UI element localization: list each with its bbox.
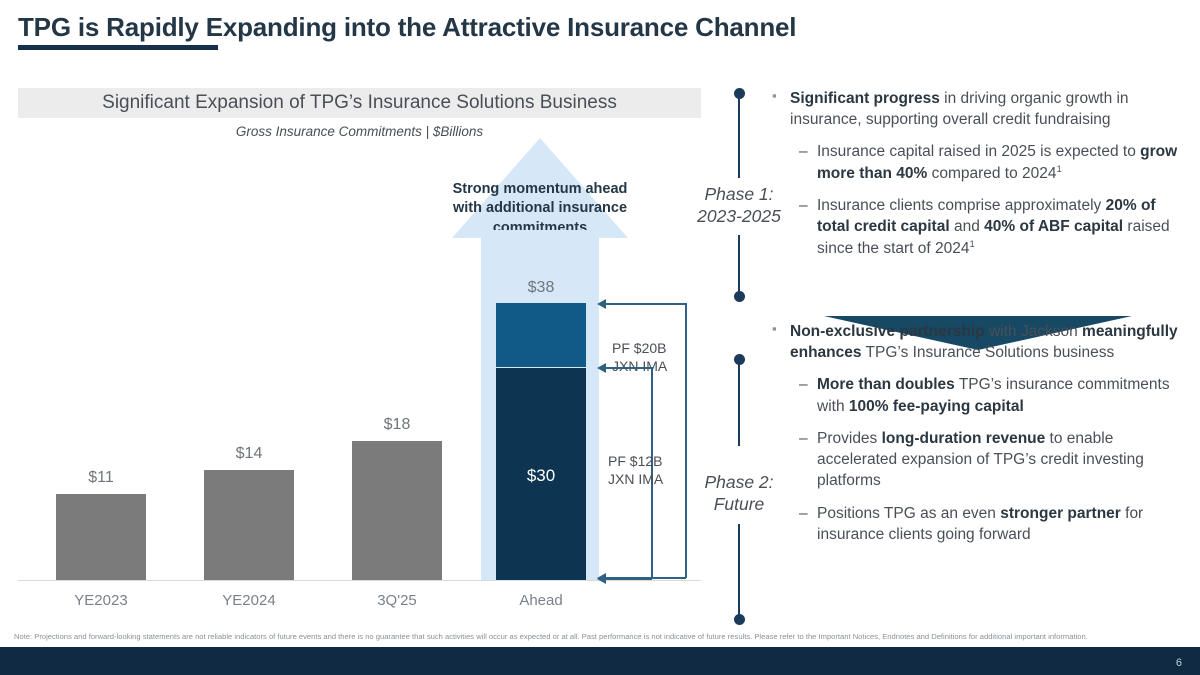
timeline-dot-phase2-end <box>734 614 745 625</box>
category-label-ye2024: YE2024 <box>204 592 294 609</box>
bullet-group2-sub1-bold2: 100% fee-paying capital <box>849 398 1024 415</box>
timeline-line-phase2-upper <box>738 364 740 446</box>
bullet-group2-sub2: Provides long-duration revenue to enable… <box>772 428 1184 492</box>
callout-pf-20b-line1: PF $20B <box>612 339 667 357</box>
chart-title: Significant Expansion of TPG’s Insurance… <box>102 92 617 114</box>
bullet-group1-sub1-footnote-marker: 1 <box>1057 164 1062 175</box>
bullet-group2-sub2-a: Provides <box>817 430 882 447</box>
bullet-group1-main: Significant progress in driving organic … <box>772 88 1184 130</box>
category-label-3q25: 3Q'25 <box>352 592 442 609</box>
bullet-group1-sub1: Insurance capital raised in 2025 is expe… <box>772 141 1184 184</box>
bar-label-ye2023: $11 <box>56 469 146 487</box>
bullet-group2-sub3: Positions TPG as an even stronger partne… <box>772 503 1184 545</box>
chart-subtitle: Gross Insurance Commitments | $Billions <box>18 124 701 139</box>
bullet-group2-sub2-bold: long-duration revenue <box>882 430 1046 447</box>
bullet-group2-main-rest: TPG’s Insurance Solutions business <box>862 344 1115 361</box>
bracket-inner-top-line <box>606 367 652 369</box>
bar-3q25 <box>352 441 442 580</box>
bullet-group2-sub3-a: Positions TPG as an even <box>817 505 1000 522</box>
page-number: 6 <box>1176 657 1182 669</box>
timeline-line-phase1-upper <box>738 98 740 178</box>
bullet-group1-sub1-a: Insurance capital raised in 2025 is expe… <box>817 143 1140 160</box>
insights-column: Significant progress in driving organic … <box>772 88 1184 545</box>
bullet-group1-sub1-b: compared to 2024 <box>927 165 1056 182</box>
bullet-group2-main-bold1: Non-exclusive partnership <box>790 323 985 340</box>
callout-pf-12b-line1: PF $12B <box>608 452 663 470</box>
bar-label-ye2024: $14 <box>204 445 294 463</box>
bullet-group1-sub2-footnote-marker: 1 <box>970 239 975 250</box>
timeline-dot-phase1-end <box>734 291 745 302</box>
bar-ye2023 <box>56 494 146 580</box>
category-label-ahead: Ahead <box>496 592 586 609</box>
bracket-inner-bottom-arrowhead <box>597 574 606 584</box>
page-title: TPG is Rapidly Expanding into the Attrac… <box>18 12 796 43</box>
chart-title-band: Significant Expansion of TPG’s Insurance… <box>18 88 701 118</box>
bracket-inner-bottom-line <box>606 578 652 580</box>
bracket-outer-top-arrowhead <box>597 299 606 309</box>
slide-footer-bar <box>0 647 1200 675</box>
timeline-line-phase2-lower <box>738 524 740 616</box>
bullet-group2-main: Non-exclusive partnership with Jackson m… <box>772 321 1184 363</box>
bullet-group2-sub3-bold: stronger partner <box>1000 505 1121 522</box>
bar-label-3q25: $18 <box>352 416 442 434</box>
bullet-group2-sub1-bold1: More than doubles <box>817 376 955 393</box>
callout-pf-12b: PF $12B JXN IMA <box>608 452 663 488</box>
bracket-inner-top-arrowhead <box>597 363 606 373</box>
bar-label-ahead-total: $38 <box>496 279 586 297</box>
bullet-group1-sub2-mid: and <box>950 218 984 235</box>
momentum-line-1: Strong momentum ahead <box>430 180 650 199</box>
bullet-group2-sub1: More than doubles TPG’s insurance commit… <box>772 374 1184 416</box>
callout-pf-12b-line2: JXN IMA <box>608 470 663 488</box>
callout-pf-20b: PF $20B JXN IMA <box>612 339 667 375</box>
timeline-line-phase1-lower <box>738 235 740 293</box>
bullet-group2-main-mid: with Jackson <box>985 323 1082 340</box>
footnote-disclaimer: Note: Projections and forward-looking st… <box>14 631 1174 642</box>
bracket-outer-vertical <box>685 303 687 578</box>
category-label-ye2023: YE2023 <box>56 592 146 609</box>
chevron-spacer <box>772 259 1184 321</box>
bullet-group1-sub2-a: Insurance clients comprise approximately <box>817 197 1106 214</box>
bar-label-ahead-base: $30 <box>496 466 586 486</box>
bar-ye2024 <box>204 470 294 580</box>
bullet-group1-main-bold: Significant progress <box>790 90 940 107</box>
bracket-outer-top-line <box>606 303 686 305</box>
bar-ahead-segment-additional <box>496 303 586 368</box>
slide-root: TPG is Rapidly Expanding into the Attrac… <box>0 0 1200 675</box>
title-underline-rule <box>18 45 218 50</box>
bullet-group1-sub2-bold2: 40% of ABF capital <box>984 218 1123 235</box>
momentum-line-2: with additional insurance <box>430 199 650 218</box>
bullet-group1-sub2: Insurance clients comprise approximately… <box>772 195 1184 259</box>
